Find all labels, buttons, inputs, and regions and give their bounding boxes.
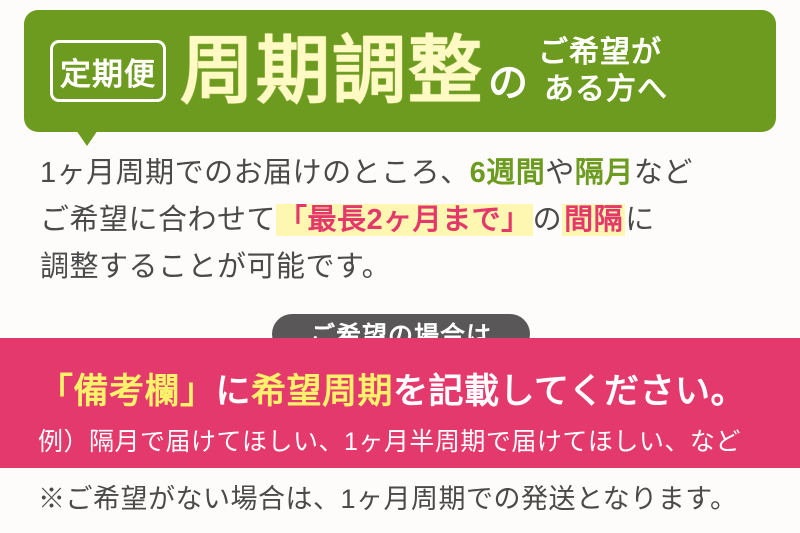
body-line-3: 調整することが可能です。 <box>40 244 780 291</box>
footer-note: ※ご希望がない場合は、1ヶ月周期での発送となります。 <box>38 477 738 516</box>
promo-page: 定期便 周期調整 の ご希望が ある方へ 1ヶ月周期でのお届けのところ、6週間や… <box>0 0 800 533</box>
banner-subtext-line1: ご希望が <box>538 34 668 72</box>
body-line1-b: 6週間 <box>470 157 546 189</box>
banner-headline-group: 周期調整 の <box>180 34 528 108</box>
body-line1-d: 隔月 <box>575 157 634 189</box>
instruction-main-d: を記載してください。 <box>393 372 746 411</box>
instruction-main: 「備考欄」に希望周期を記載してください。 <box>38 363 746 414</box>
subscription-badge: 定期便 <box>50 40 166 102</box>
banner-pointer <box>76 130 98 146</box>
body-line1-a: 1ヶ月周期でのお届けのところ、 <box>40 157 470 189</box>
body-line2-d: 間隔 <box>562 204 625 236</box>
instruction-field-name: 「備考欄」 <box>38 372 216 411</box>
instruction-cycle-word: 希望周期 <box>251 372 393 411</box>
banner-particle: の <box>488 63 528 103</box>
banner-headline: 周期調整 <box>180 34 484 108</box>
body-line2-a: ご希望に合わせて <box>40 204 276 236</box>
instruction-block: 「備考欄」に希望周期を記載してください。 例）隔月で届けてほしい、1ヶ月半周期で… <box>0 338 800 468</box>
body-line1-e: など <box>634 157 693 189</box>
header-banner: 定期便 周期調整 の ご希望が ある方へ <box>24 10 776 132</box>
body-line-2: ご希望に合わせて「最長2ヶ月まで」の間隔に <box>40 197 780 244</box>
body-line1-c: や <box>545 157 575 189</box>
body-line2-e: に <box>625 204 655 236</box>
body-line-1: 1ヶ月周期でのお届けのところ、6週間や隔月など <box>40 150 780 197</box>
banner-subtext-line2: ある方へ <box>544 71 668 109</box>
instruction-example: 例）隔月で届けてほしい、1ヶ月半周期で届けてほしい、など <box>38 422 741 458</box>
body-line2-b: 「最長2ヶ月まで」 <box>276 204 533 236</box>
banner-subtext: ご希望が ある方へ <box>538 34 668 109</box>
body-line2-c: の <box>533 204 563 236</box>
instruction-main-b: に <box>216 372 252 411</box>
body-paragraph: 1ヶ月周期でのお届けのところ、6週間や隔月など ご希望に合わせて「最長2ヶ月まで… <box>40 150 780 291</box>
